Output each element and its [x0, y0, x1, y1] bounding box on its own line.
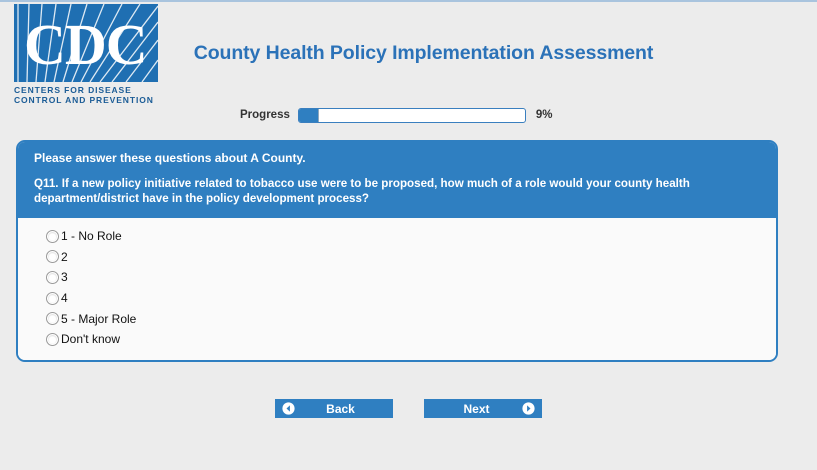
next-button-label: Next — [431, 402, 522, 416]
answer-option[interactable]: 3 — [46, 267, 776, 288]
back-button-label: Back — [295, 402, 386, 416]
navigation-buttons: Back Next — [0, 399, 817, 418]
answer-option-label: 4 — [61, 291, 68, 305]
answer-option-label: 5 - Major Role — [61, 312, 136, 326]
answer-option[interactable]: Don't know — [46, 329, 776, 350]
radio-button[interactable] — [46, 292, 59, 305]
answer-option-label: 3 — [61, 270, 68, 284]
progress-indicator: Progress 9% — [240, 106, 552, 124]
cdc-tagline: CENTERS FOR DISEASE CONTROL AND PREVENTI… — [14, 85, 158, 105]
answer-option[interactable]: 5 - Major Role — [46, 308, 776, 329]
arrow-left-circle-icon — [282, 402, 295, 415]
arrow-right-circle-icon — [522, 402, 535, 415]
radio-button[interactable] — [46, 250, 59, 263]
back-button[interactable]: Back — [275, 399, 393, 418]
cdc-tagline-line2: CONTROL AND PREVENTION — [14, 95, 158, 105]
next-button[interactable]: Next — [424, 399, 542, 418]
question-panel-header: Please answer these questions about A Co… — [18, 142, 776, 218]
answer-option-label: 1 - No Role — [61, 229, 122, 243]
answer-option-label: Don't know — [61, 332, 120, 346]
question-number: Q11. — [34, 177, 59, 190]
question-block: Q11. If a new policy initiative related … — [34, 176, 760, 206]
radio-button[interactable] — [46, 312, 59, 325]
radio-button[interactable] — [46, 271, 59, 284]
answer-options-list: 1 - No Role2345 - Major RoleDon't know — [18, 218, 776, 360]
progress-bar-track — [298, 108, 526, 123]
answer-option-label: 2 — [61, 250, 68, 264]
radio-button[interactable] — [46, 230, 59, 243]
panel-instruction: Please answer these questions about A Co… — [34, 151, 760, 165]
progress-bar-fill — [299, 109, 319, 122]
question-panel: Please answer these questions about A Co… — [16, 140, 778, 362]
question-text: If a new policy initiative related to to… — [34, 177, 690, 205]
radio-button[interactable] — [46, 333, 59, 346]
answer-option[interactable]: 4 — [46, 288, 776, 309]
answer-option[interactable]: 1 - No Role — [46, 226, 776, 247]
progress-percent-label: 9% — [536, 109, 553, 121]
progress-label: Progress — [240, 109, 290, 121]
page-header: CDC CENTERS FOR DISEASE CONTROL AND PREV… — [0, 2, 817, 132]
page-title: County Health Policy Implementation Asse… — [0, 42, 817, 65]
answer-option[interactable]: 2 — [46, 247, 776, 268]
cdc-tagline-line1: CENTERS FOR DISEASE — [14, 85, 158, 95]
